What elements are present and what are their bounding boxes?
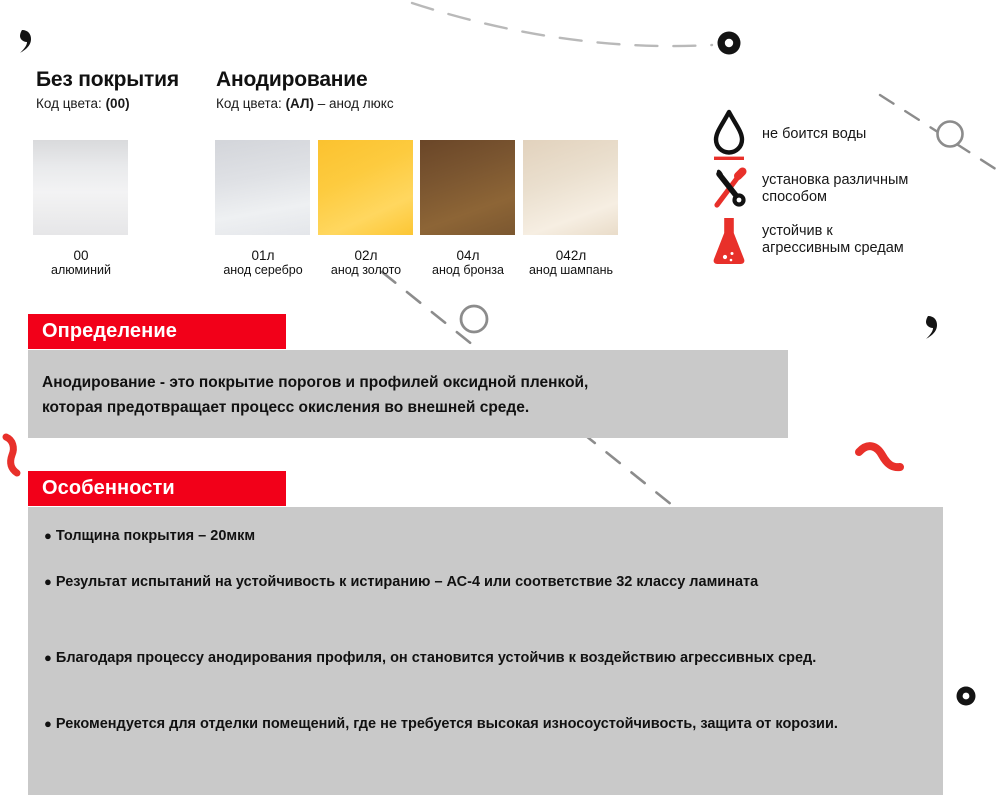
property-item-2-label: Результат испытаний на устойчивость к ис… [56, 574, 758, 590]
infographic-page: Без покрытия Код цвета: (00) Анодировани… [0, 0, 1000, 800]
section-header-properties: Особенности [28, 471, 286, 506]
swatch-label-00: 00 алюминий [21, 248, 141, 278]
property-item-4: ● Рекомендуется для отделки помещений, г… [44, 712, 944, 736]
property-item-1: ● Толщина покрытия – 20мкм [44, 524, 924, 548]
column-title-uncoated: Без покрытия [36, 68, 179, 92]
ring-right [938, 122, 963, 147]
swatch-00[interactable] [33, 140, 128, 235]
comma-mark-right [926, 316, 937, 339]
feature-waterproof-label: не боится воды [762, 126, 866, 143]
property-item-3-label: Благодаря процессу анодирования профиля,… [56, 650, 816, 666]
donut-mark-top [718, 32, 741, 55]
column-code-uncoated: Код цвета: (00) [36, 96, 130, 111]
column-code-anodized-prefix: Код цвета: [216, 96, 286, 111]
column-code-uncoated-prefix: Код цвета: [36, 96, 106, 111]
swatch-label-042l: 042л анод шампань [511, 248, 631, 278]
column-title-anodized: Анодирование [216, 68, 367, 92]
swatch-label-01l: 01л анод серебро [203, 248, 323, 278]
swatch-042l[interactable] [523, 140, 618, 235]
property-item-3: ● Благодаря процессу анодирования профил… [44, 646, 919, 670]
swatch-02l[interactable] [318, 140, 413, 235]
feature-installation: установка различным способом [706, 163, 908, 215]
property-item-4-label: Рекомендуется для отделки помещений, где… [56, 716, 838, 732]
tools-icon [706, 163, 752, 215]
feature-installation-label: установка различным способом [762, 172, 908, 206]
definition-body: Анодирование - это покрытие порогов и пр… [42, 370, 772, 420]
swatch-name-00: алюминий [21, 263, 141, 278]
column-code-anodized: Код цвета: (АЛ) – анод люкс [216, 96, 394, 111]
flask-icon [706, 214, 752, 266]
swatch-01l[interactable] [215, 140, 310, 235]
property-item-1-label: Толщина покрытия – 20мкм [56, 528, 255, 544]
bullet-icon-2: ● [44, 574, 52, 589]
bullet-icon-4: ● [44, 716, 52, 731]
comma-mark-topleft [20, 30, 31, 53]
swatch-name-01l: анод серебро [203, 263, 323, 278]
feature-chemical-resistant: устойчив к агрессивным средам [706, 214, 904, 266]
column-code-uncoated-value: (00) [106, 96, 130, 111]
red-squiggle-right [859, 446, 900, 467]
bullet-icon-1: ● [44, 528, 52, 543]
donut-mark-bottom [957, 687, 976, 706]
swatch-code-042l: 042л [511, 248, 631, 263]
water-drop-icon [706, 108, 752, 160]
swatch-04l[interactable] [420, 140, 515, 235]
swatch-name-042l: анод шампань [511, 263, 631, 278]
dashed-line-top [412, 3, 712, 46]
column-code-anodized-suffix: – анод люкс [314, 96, 394, 111]
swatch-code-04l: 04л [408, 248, 528, 263]
feature-chemical-resistant-label: устойчив к агрессивным средам [762, 223, 904, 257]
swatch-label-04l: 04л анод бронза [408, 248, 528, 278]
property-item-2: ● Результат испытаний на устойчивость к … [44, 570, 934, 594]
ring-center [461, 306, 487, 332]
column-code-anodized-value: (АЛ) [286, 96, 314, 111]
feature-waterproof: не боится воды [706, 108, 866, 160]
bullet-icon-3: ● [44, 650, 52, 665]
red-squiggle-left [6, 437, 17, 473]
swatch-name-04l: анод бронза [408, 263, 528, 278]
swatch-code-00: 00 [21, 248, 141, 263]
section-header-definition: Определение [28, 314, 286, 349]
swatch-code-01l: 01л [203, 248, 323, 263]
